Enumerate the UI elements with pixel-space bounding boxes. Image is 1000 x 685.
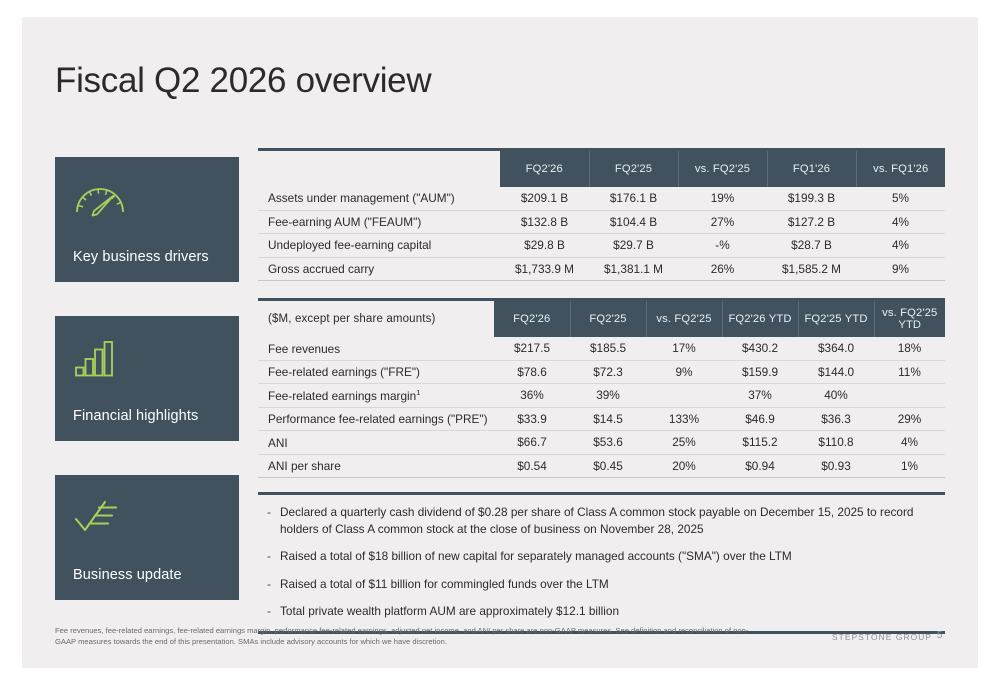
cell: 37%: [722, 384, 798, 408]
row-label: Fee-earning AUM ("FEAUM"): [258, 210, 500, 234]
cell: $28.7 B: [767, 234, 856, 258]
cell: 39%: [570, 384, 646, 408]
cell: [874, 384, 945, 408]
cell: $1,585.2 M: [767, 257, 856, 280]
table-header-row: FQ2'26 FQ2'25 vs. FQ2'25 FQ1'26 vs. FQ1'…: [258, 151, 945, 187]
cell: $364.0: [798, 337, 874, 360]
row-label: Gross accrued carry: [258, 257, 500, 280]
cell: $66.7: [494, 431, 570, 455]
sidebar-card-key-business-drivers[interactable]: Key business drivers: [55, 157, 239, 282]
row-label-text: ANI: [268, 436, 288, 450]
sidebar-card-label: Business update: [73, 567, 182, 583]
row-label-footnote: 1: [416, 388, 420, 397]
table-header-cell[interactable]: vs. FQ2'25: [678, 151, 767, 187]
bullet-dash: -: [258, 548, 280, 565]
cell: 4%: [856, 234, 945, 258]
row-label: Performance fee-related earnings ("PRE"): [258, 407, 494, 431]
row-label-text: Fee-related earnings ("FRE"): [268, 365, 420, 379]
table-bottom-rule: [258, 280, 945, 281]
table-row: Fee revenues $217.5 $185.5 17% $430.2 $3…: [258, 337, 945, 360]
cell: $14.5: [570, 407, 646, 431]
cell: 25%: [646, 431, 722, 455]
sidebar-card-label: Key business drivers: [73, 249, 209, 265]
table-header-cell[interactable]: vs. FQ2'25 YTD: [874, 301, 945, 337]
table-row: Fee-earning AUM ("FEAUM") $132.8 B $104.…: [258, 210, 945, 234]
cell: $29.8 B: [500, 234, 589, 258]
page-title: Fiscal Q2 2026 overview: [55, 61, 431, 101]
table-bottom-rule: [258, 477, 945, 478]
bullet-dash: -: [258, 603, 280, 620]
row-label-text: ANI per share: [268, 459, 341, 473]
row-label-text: Performance fee-related earnings ("PRE"): [268, 412, 488, 426]
bullet-dash: -: [258, 576, 280, 593]
list-item: - Raised a total of $11 billion for comm…: [258, 576, 945, 593]
footnote-text: Fee revenues, fee-related earnings, fee-…: [55, 625, 755, 647]
cell: $185.5: [570, 337, 646, 360]
gauge-icon: [72, 174, 128, 222]
row-label: Assets under management ("AUM"): [258, 187, 500, 210]
cell: 20%: [646, 454, 722, 477]
table-row: Fee-related earnings ("FRE") $78.6 $72.3…: [258, 360, 945, 384]
cell: $199.3 B: [767, 187, 856, 210]
cell: 40%: [798, 384, 874, 408]
cell: 5%: [856, 187, 945, 210]
brand-wordmark: STEPSTONE GROUP: [832, 632, 932, 642]
table-header-cell[interactable]: FQ2'26: [494, 301, 570, 337]
bullet-text: Declared a quarterly cash dividend of $0…: [280, 504, 945, 537]
cell: $0.54: [494, 454, 570, 477]
cell: [646, 384, 722, 408]
table-row: Assets under management ("AUM") $209.1 B…: [258, 187, 945, 210]
cell: $0.94: [722, 454, 798, 477]
cell: $53.6: [570, 431, 646, 455]
cell: $36.3: [798, 407, 874, 431]
row-label-text: Fee revenues: [268, 342, 340, 356]
cell: $430.2: [722, 337, 798, 360]
cell: $176.1 B: [589, 187, 678, 210]
bullet-list: - Declared a quarterly cash dividend of …: [258, 495, 945, 631]
row-label: ANI: [258, 431, 494, 455]
bullet-dash: -: [258, 504, 280, 521]
cell: 11%: [874, 360, 945, 384]
table-header-cell[interactable]: vs. FQ2'25: [646, 301, 722, 337]
cell: $127.2 B: [767, 210, 856, 234]
cell: 9%: [856, 257, 945, 280]
cell: 9%: [646, 360, 722, 384]
table-row: Performance fee-related earnings ("PRE")…: [258, 407, 945, 431]
cell: -%: [678, 234, 767, 258]
table-row: Fee-related earnings margin1 36% 39% 37%…: [258, 384, 945, 408]
cell: 133%: [646, 407, 722, 431]
cell: $1,381.1 M: [589, 257, 678, 280]
business-update-section: - Declared a quarterly cash dividend of …: [258, 492, 945, 634]
list-item: - Declared a quarterly cash dividend of …: [258, 504, 945, 537]
page-number: 5: [937, 630, 943, 641]
table-header-cell[interactable]: vs. FQ1'26: [856, 151, 945, 187]
cell: $33.9: [494, 407, 570, 431]
bullet-text: Raised a total of $18 billion of new cap…: [280, 548, 792, 565]
cell: 19%: [678, 187, 767, 210]
cell: $159.9: [722, 360, 798, 384]
slide-canvas: Fiscal Q2 2026 overview Key business dri…: [22, 17, 978, 668]
cell: $144.0: [798, 360, 874, 384]
cell: 27%: [678, 210, 767, 234]
cell: 4%: [874, 431, 945, 455]
cell: 29%: [874, 407, 945, 431]
table-header-row: ($M, except per share amounts) FQ2'26 FQ…: [258, 301, 945, 337]
bar-chart-icon: [72, 333, 128, 381]
list-item: - Raised a total of $18 billion of new c…: [258, 548, 945, 565]
sidebar-card-financial-highlights[interactable]: Financial highlights: [55, 316, 239, 441]
row-label-text: Fee-related earnings margin: [268, 389, 416, 403]
table-header-cell[interactable]: FQ2'25: [570, 301, 646, 337]
table-key-business-drivers: FQ2'26 FQ2'25 vs. FQ2'25 FQ1'26 vs. FQ1'…: [258, 148, 945, 281]
bullet-text: Total private wealth platform AUM are ap…: [280, 603, 619, 620]
checklist-icon: [72, 492, 128, 540]
cell: $46.9: [722, 407, 798, 431]
row-label: Fee-related earnings ("FRE"): [258, 360, 494, 384]
cell: $72.3: [570, 360, 646, 384]
row-label: ANI per share: [258, 454, 494, 477]
cell: $29.7 B: [589, 234, 678, 258]
row-label: Undeployed fee-earning capital: [258, 234, 500, 258]
sidebar-card-business-update[interactable]: Business update: [55, 475, 239, 600]
table-row: ANI $66.7 $53.6 25% $115.2 $110.8 4%: [258, 431, 945, 455]
cell: $0.93: [798, 454, 874, 477]
list-item: - Total private wealth platform AUM are …: [258, 603, 945, 620]
table-header-label-cell: [258, 151, 500, 187]
table-header-cell[interactable]: FQ2'25 YTD: [798, 301, 874, 337]
cell: $217.5: [494, 337, 570, 360]
cell: 36%: [494, 384, 570, 408]
table-header-cell[interactable]: FQ1'26: [767, 151, 856, 187]
cell: $110.8: [798, 431, 874, 455]
bullet-text: Raised a total of $11 billion for commin…: [280, 576, 609, 593]
table-row: Undeployed fee-earning capital $29.8 B $…: [258, 234, 945, 258]
table-header-cell[interactable]: FQ2'25: [589, 151, 678, 187]
table-financial-highlights: ($M, except per share amounts) FQ2'26 FQ…: [258, 298, 945, 478]
cell: 18%: [874, 337, 945, 360]
cell: $78.6: [494, 360, 570, 384]
cell: $104.4 B: [589, 210, 678, 234]
row-label: Fee-related earnings margin1: [258, 384, 494, 408]
table-header-cell[interactable]: FQ2'26: [500, 151, 589, 187]
table-row: Gross accrued carry $1,733.9 M $1,381.1 …: [258, 257, 945, 280]
cell: 17%: [646, 337, 722, 360]
row-label: Fee revenues: [258, 337, 494, 360]
table-row: ANI per share $0.54 $0.45 20% $0.94 $0.9…: [258, 454, 945, 477]
cell: 4%: [856, 210, 945, 234]
table-header-cell[interactable]: FQ2'26 YTD: [722, 301, 798, 337]
sidebar-card-label: Financial highlights: [73, 408, 198, 424]
cell: 26%: [678, 257, 767, 280]
cell: $1,733.9 M: [500, 257, 589, 280]
cell: $209.1 B: [500, 187, 589, 210]
table-header-label-cell: ($M, except per share amounts): [258, 301, 494, 337]
cell: $132.8 B: [500, 210, 589, 234]
cell: $0.45: [570, 454, 646, 477]
cell: $115.2: [722, 431, 798, 455]
cell: 1%: [874, 454, 945, 477]
